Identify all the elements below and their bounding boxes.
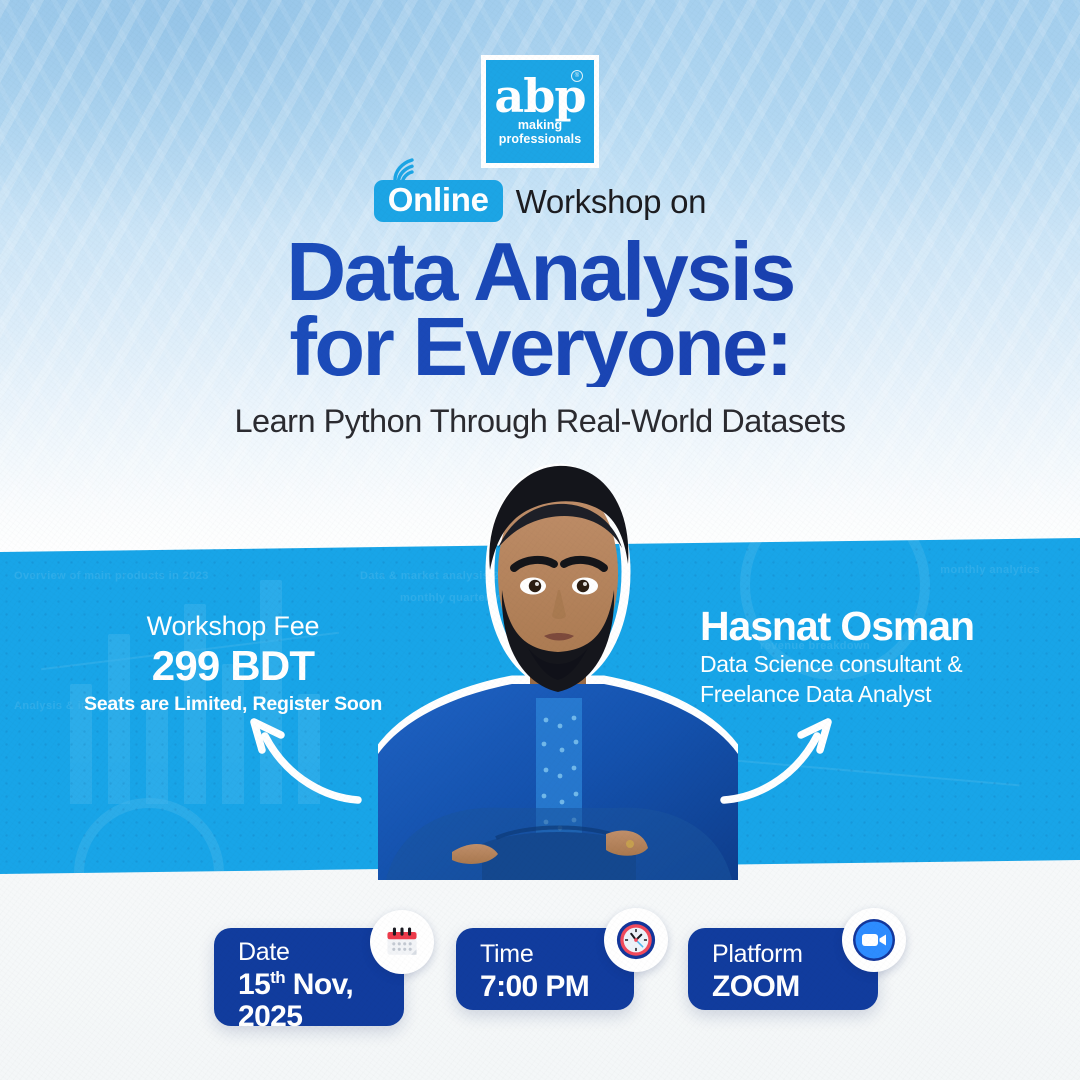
online-badge: Online — [374, 180, 503, 222]
card-date-ordinal: th — [270, 968, 285, 987]
registered-mark-icon: ® — [571, 70, 583, 82]
page-title: Data Analysis for Everyone: — [0, 233, 1080, 387]
logo-wordmark: abp — [494, 75, 585, 118]
headline-block: Online Workshop on Data Analysis for Eve… — [0, 180, 1080, 440]
curved-arrow-up-left-icon — [232, 712, 364, 820]
logo-tagline-line2: professionals — [499, 132, 582, 146]
calendar-icon — [382, 922, 422, 962]
kicker-text: Workshop on — [516, 185, 707, 218]
card-date-year: 2025 — [238, 1000, 302, 1033]
logo-tagline-line1: making — [518, 118, 562, 132]
card-date-day: 15 — [238, 968, 270, 1001]
card-time-value: 7:00 PM — [480, 971, 634, 1003]
poster-canvas: abp making professionals ® Online Worksh… — [0, 0, 1080, 1080]
brand-logo: abp making professionals ® — [481, 55, 599, 168]
workshop-fee-block: Workshop Fee 299 BDT Seats are Limited, … — [38, 612, 428, 716]
kicker-line: Online Workshop on — [374, 180, 706, 222]
speaker-role-line1: Data Science consultant & — [700, 651, 1040, 678]
card-date-month: Nov, — [285, 968, 353, 1001]
zoom-video-icon — [852, 918, 896, 962]
clock-badge — [604, 908, 668, 972]
speaker-role-line2: Freelance Data Analyst — [700, 681, 1040, 708]
clock-icon — [615, 919, 657, 961]
fee-label: Workshop Fee — [38, 612, 428, 642]
card-date-value: 15th Nov, 2025 — [238, 969, 404, 1034]
zoom-badge — [842, 908, 906, 972]
curved-arrow-up-right-icon — [718, 712, 850, 820]
fee-amount: 299 BDT — [38, 643, 428, 689]
title-line-2: for Everyone: — [0, 308, 1080, 387]
calendar-badge — [370, 910, 434, 974]
speaker-name: Hasnat Osman — [700, 604, 1040, 648]
wifi-signal-icon — [390, 157, 424, 183]
logo-box: abp making professionals ® — [481, 55, 599, 168]
speaker-info-block: Hasnat Osman Data Science consultant & F… — [700, 604, 1040, 709]
card-platform-value: ZOOM — [712, 971, 878, 1003]
detail-cards: Date 15th Nov, 2025 Time 7:00 PM Platfor… — [0, 900, 1080, 1060]
speaker-photo — [378, 452, 738, 880]
page-subtitle: Learn Python Through Real-World Datasets — [0, 403, 1080, 440]
